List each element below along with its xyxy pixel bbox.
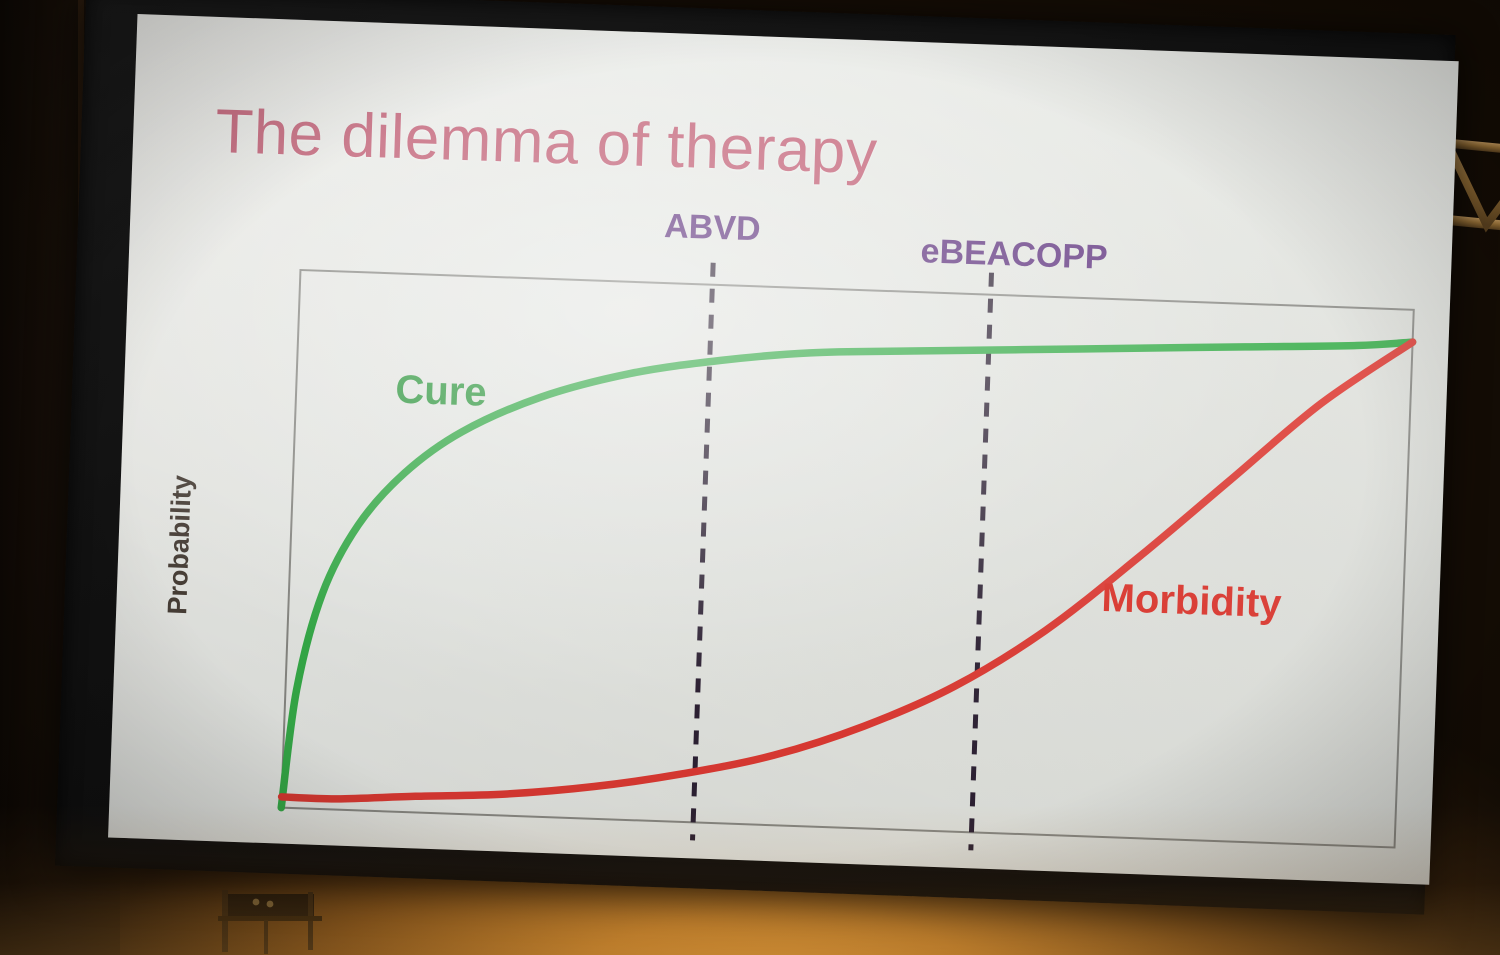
slide-surface: The dilemma of therapy ABVD eBEACOPP — [108, 14, 1459, 885]
annotation-line-abvd — [693, 263, 714, 841]
y-axis-title: Probability — [162, 475, 197, 616]
chart-canvas: ABVD eBEACOPP Cure Morbidity Intensity o… — [108, 14, 1459, 885]
annotation-line-ebeacopp — [971, 273, 992, 851]
projection-screen: The dilemma of therapy ABVD eBEACOPP — [14, 0, 1476, 949]
annotation-label-abvd: ABVD — [664, 207, 762, 248]
series-label-morbidity: Morbidity — [1101, 576, 1283, 626]
chart-figure: ABVD eBEACOPP Cure Morbidity Intensity o… — [108, 14, 1459, 885]
annotation-label-ebeacopp: eBEACOPP — [920, 232, 1108, 277]
series-label-cure: Cure — [395, 368, 488, 415]
photo-canvas: The dilemma of therapy ABVD eBEACOPP — [0, 0, 1500, 955]
stage-equipment-silhouette — [212, 886, 342, 955]
plot-frame — [281, 270, 1414, 848]
screen-bezel: The dilemma of therapy ABVD eBEACOPP — [55, 0, 1456, 915]
